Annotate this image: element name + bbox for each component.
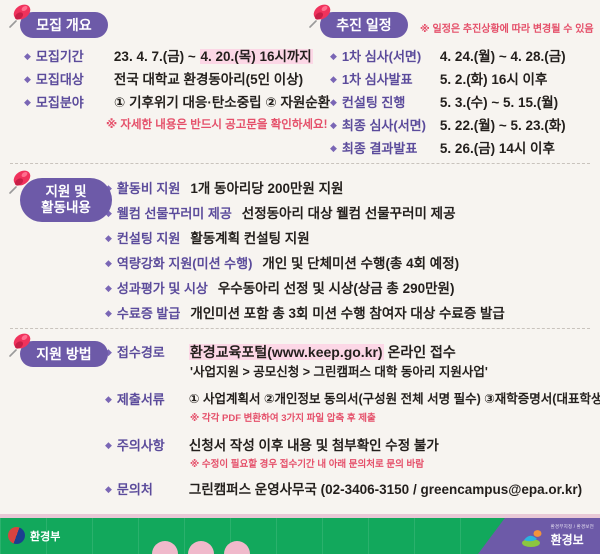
highlight-portal-url[interactable]: 환경교육포털(www.keep.go.kr) (189, 344, 384, 360)
row-recruitment-period: ◆ 모집기간 23. 4. 7.(금) ~ 4. 20.(목) 16시까지 (24, 48, 313, 65)
divider-1 (10, 163, 590, 164)
row-cautions: ◆ 주의사항 신청서 작성 이후 내용 및 첨부확인 수정 불가 (105, 437, 439, 454)
ministry-name-label: 환경부 (30, 528, 60, 544)
row-final-review: ◆ 최종 심사(서면) 5. 22.(월) ~ 5. 23.(화) (330, 117, 566, 134)
diamond-bullet-icon: ◆ (330, 71, 337, 88)
row-term: 모집기간 (36, 48, 114, 65)
row-term: 최종 결과발표 (342, 140, 440, 157)
pill-label: 모집 개요 (20, 12, 108, 38)
diamond-bullet-icon: ◆ (105, 305, 112, 322)
row-application-channel: ◆ 접수경로 환경교육포털(www.keep.go.kr) 온라인 접수 (105, 344, 456, 361)
ministry-of-environment-logo: 환경부 (8, 527, 60, 544)
diamond-bullet-icon: ◆ (105, 255, 112, 272)
diamond-bullet-icon: ◆ (24, 94, 31, 111)
row-desc: 4. 24.(월) ~ 4. 28.(금) (440, 48, 566, 65)
documents-note: ※ 각각 PDF 변환하여 3가지 파일 압축 후 제출 (190, 411, 376, 426)
footer-bar: 환경부 환경부지정 / 환경보전 환경보 (0, 514, 600, 554)
row-first-review-announcement: ◆ 1차 심사발표 5. 2.(화) 16시 이후 (330, 71, 547, 88)
diamond-bullet-icon: ◆ (105, 280, 112, 297)
pill-support-and-activities: 지원 및 활동내용 (20, 178, 112, 222)
pill-how-to-apply: 지원 방법 (20, 341, 108, 367)
pill-label: 지원 및 활동내용 (20, 178, 112, 222)
epa-text-group: 환경부지정 / 환경보전 환경보 (551, 524, 594, 548)
diamond-bullet-icon: ◆ (330, 94, 337, 111)
epa-logo: 환경부지정 / 환경보전 환경보 (522, 524, 594, 548)
row-desc: 5. 3.(수) ~ 5. 15.(월) (440, 94, 558, 111)
row-desc: ① 기후위기 대응·탄소중립 ② 자원순환 (114, 94, 330, 111)
row-desc: 5. 22.(월) ~ 5. 23.(화) (440, 117, 566, 134)
row-desc: 전국 대학교 환경동아리(5인 이상) (114, 71, 303, 88)
epa-name-label: 환경보 (551, 531, 594, 548)
row-term: 모집분야 (36, 94, 114, 111)
row-desc: 23. 4. 7.(금) ~ 4. 20.(목) 16시까지 (114, 48, 313, 65)
pill-label: 지원 방법 (20, 341, 108, 367)
row-term: 1차 심사발표 (342, 71, 440, 88)
row-term: 웰컴 선물꾸러미 제공 (117, 205, 232, 222)
row-desc: 선정동아리 대상 웰컴 선물꾸러미 제공 (242, 205, 456, 222)
row-term: 최종 심사(서면) (342, 117, 440, 134)
overview-warning-note: ※ 자세한 내용은 반드시 공고문을 확인하세요! (106, 118, 327, 133)
row-desc[interactable]: 그린캠퍼스 운영사무국 (02-3406-3150 / greencampus@… (189, 481, 582, 498)
row-term: 성과평가 및 시상 (117, 280, 208, 297)
row-desc: 1개 동아리당 200만원 지원 (190, 180, 343, 197)
cautions-note: ※ 수정이 필요할 경우 접수기간 내 아래 문의처로 문의 바람 (190, 457, 424, 472)
row-desc: 개인 및 단체미션 수행(총 4회 예정) (262, 255, 459, 272)
row-first-review: ◆ 1차 심사(서면) 4. 24.(월) ~ 4. 28.(금) (330, 48, 566, 65)
diamond-bullet-icon: ◆ (105, 230, 112, 247)
row-welcome-kit: ◆ 웰컴 선물꾸러미 제공 선정동아리 대상 웰컴 선물꾸러미 제공 (105, 205, 456, 222)
taegeuk-icon (8, 527, 25, 544)
pill-schedule: 추진 일정 (320, 12, 408, 38)
row-activity-funding: ◆ 활동비 지원 1개 동아리당 200만원 지원 (105, 180, 343, 197)
row-consulting-support: ◆ 컨설팅 지원 활동계획 컨설팅 지원 (105, 230, 310, 247)
row-term: 접수경로 (117, 344, 189, 361)
application-path-subline: '사업지원 > 공모신청 > 그린캠퍼스 대학 동아리 지원사업' (190, 364, 488, 380)
poster-root: 모집 개요 ◆ 모집기간 23. 4. 7.(금) ~ 4. 20.(목) 16… (0, 0, 600, 554)
row-final-announcement: ◆ 최종 결과발표 5. 26.(금) 14시 이후 (330, 140, 555, 157)
diamond-bullet-icon: ◆ (105, 481, 112, 498)
row-certificate: ◆ 수료증 발급 개인미션 포함 총 3회 미션 수행 참여자 대상 수료증 발… (105, 305, 505, 322)
diamond-bullet-icon: ◆ (105, 437, 112, 454)
row-term: 활동비 지원 (117, 180, 180, 197)
diamond-bullet-icon: ◆ (24, 48, 31, 65)
pill-label-line2: 활동내용 (41, 200, 91, 216)
diamond-bullet-icon: ◆ (330, 48, 337, 65)
pill-label: 추진 일정 (320, 12, 408, 38)
row-contact: ◆ 문의처 그린캠퍼스 운영사무국 (02-3406-3150 / greenc… (105, 481, 582, 498)
diamond-bullet-icon: ◆ (330, 117, 337, 134)
row-consulting: ◆ 컨설팅 진행 5. 3.(수) ~ 5. 15.(월) (330, 94, 558, 111)
row-term: 수료증 발급 (117, 305, 180, 322)
row-recruitment-field: ◆ 모집분야 ① 기후위기 대응·탄소중립 ② 자원순환 (24, 94, 330, 111)
row-desc: 5. 2.(화) 16시 이후 (440, 71, 547, 88)
row-recruitment-target: ◆ 모집대상 전국 대학교 환경동아리(5인 이상) (24, 71, 303, 88)
schedule-change-note: ※ 일정은 추진상황에 따라 변경될 수 있음 (420, 22, 594, 37)
pill-recruitment-overview: 모집 개요 (20, 12, 108, 38)
diamond-bullet-icon: ◆ (105, 391, 112, 408)
row-desc: 환경교육포털(www.keep.go.kr) 온라인 접수 (189, 344, 456, 361)
row-term: 컨설팅 진행 (342, 94, 440, 111)
row-term: 문의처 (117, 481, 189, 498)
row-performance-award: ◆ 성과평가 및 시상 우수동아리 선정 및 시상(상금 총 290만원) (105, 280, 454, 297)
row-required-documents: ◆ 제출서류 ① 사업계획서 ②개인정보 동의서(구성원 전체 서명 필수) ③… (105, 391, 600, 408)
row-capacity-building: ◆ 역량강화 지원(미션 수행) 개인 및 단체미션 수행(총 4회 예정) (105, 255, 459, 272)
epa-sub-label: 환경부지정 / 환경보전 (551, 524, 594, 530)
row-term: 주의사항 (117, 437, 189, 454)
row-term: 컨설팅 지원 (117, 230, 180, 247)
row-term: 제출서류 (117, 391, 189, 408)
row-desc: 우수동아리 선정 및 시상(상금 총 290만원) (218, 280, 455, 297)
diamond-bullet-icon: ◆ (330, 140, 337, 157)
row-desc: ① 사업계획서 ②개인정보 동의서(구성원 전체 서명 필수) ③재학증명서(대… (189, 391, 600, 408)
row-term: 1차 심사(서면) (342, 48, 440, 65)
epa-mark-icon (522, 528, 548, 548)
row-term: 역량강화 지원(미션 수행) (117, 255, 252, 272)
row-desc: 신청서 작성 이후 내용 및 첨부확인 수정 불가 (189, 437, 439, 454)
row-desc: 5. 26.(금) 14시 이후 (440, 140, 555, 157)
divider-2 (10, 328, 590, 329)
pill-label-line1: 지원 및 (45, 184, 86, 200)
row-term: 모집대상 (36, 71, 114, 88)
row-desc: 활동계획 컨설팅 지원 (190, 230, 309, 247)
row-desc: 개인미션 포함 총 3회 미션 수행 참여자 대상 수료증 발급 (190, 305, 505, 322)
highlight-deadline: 4. 20.(목) 16시까지 (200, 49, 313, 64)
diamond-bullet-icon: ◆ (24, 71, 31, 88)
